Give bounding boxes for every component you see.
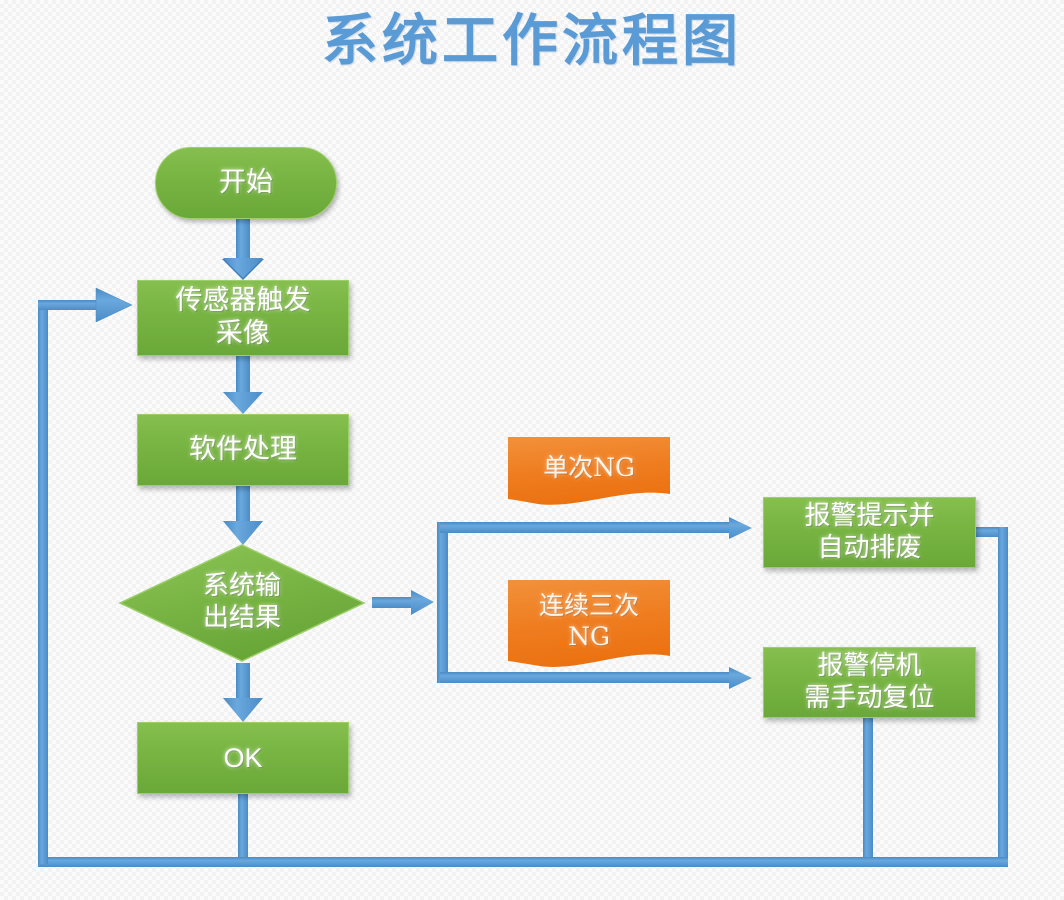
edge-decision-to-ok xyxy=(223,663,263,722)
branch-trunk xyxy=(437,522,448,683)
edge-single-ng-to-alarm-waste xyxy=(440,517,752,539)
node-ok[interactable]: OK xyxy=(137,722,349,794)
edge-start-to-sensor xyxy=(222,219,264,280)
edge-software-to-decision xyxy=(223,486,263,545)
edge-decision-to-branch xyxy=(372,590,434,615)
edge-sensor-to-software xyxy=(223,356,263,414)
node-software-processing[interactable]: 软件处理 xyxy=(137,414,349,486)
edge-ok-return xyxy=(238,794,248,867)
node-alarm-and-auto-reject[interactable]: 报警提示并 自动排废 xyxy=(763,497,976,568)
label-triple-ng-text: 连续三次 NG xyxy=(506,580,672,662)
page-title: 系统工作流程图 xyxy=(0,8,1064,75)
node-alarm-stop-manual-reset[interactable]: 报警停机 需手动复位 xyxy=(763,647,976,718)
edge-alarm-stop-return xyxy=(863,718,873,867)
node-decision-system-output[interactable]: 系统输 出结果 xyxy=(118,543,366,663)
edge-alarm-waste-return xyxy=(976,527,1008,867)
flowchart-canvas: 系统工作流程图 xyxy=(0,0,1064,900)
node-decision-label: 系统输 出结果 xyxy=(118,543,366,663)
label-single-ng[interactable]: 单次NG xyxy=(506,437,672,515)
label-single-ng-text: 单次NG xyxy=(506,437,672,499)
bottom-return-rail xyxy=(38,857,1008,867)
label-triple-ng[interactable]: 连续三次 NG xyxy=(506,580,672,678)
node-start[interactable]: 开始 xyxy=(155,147,337,219)
node-sensor-trigger-capture[interactable]: 传感器触发 采像 xyxy=(137,280,349,356)
